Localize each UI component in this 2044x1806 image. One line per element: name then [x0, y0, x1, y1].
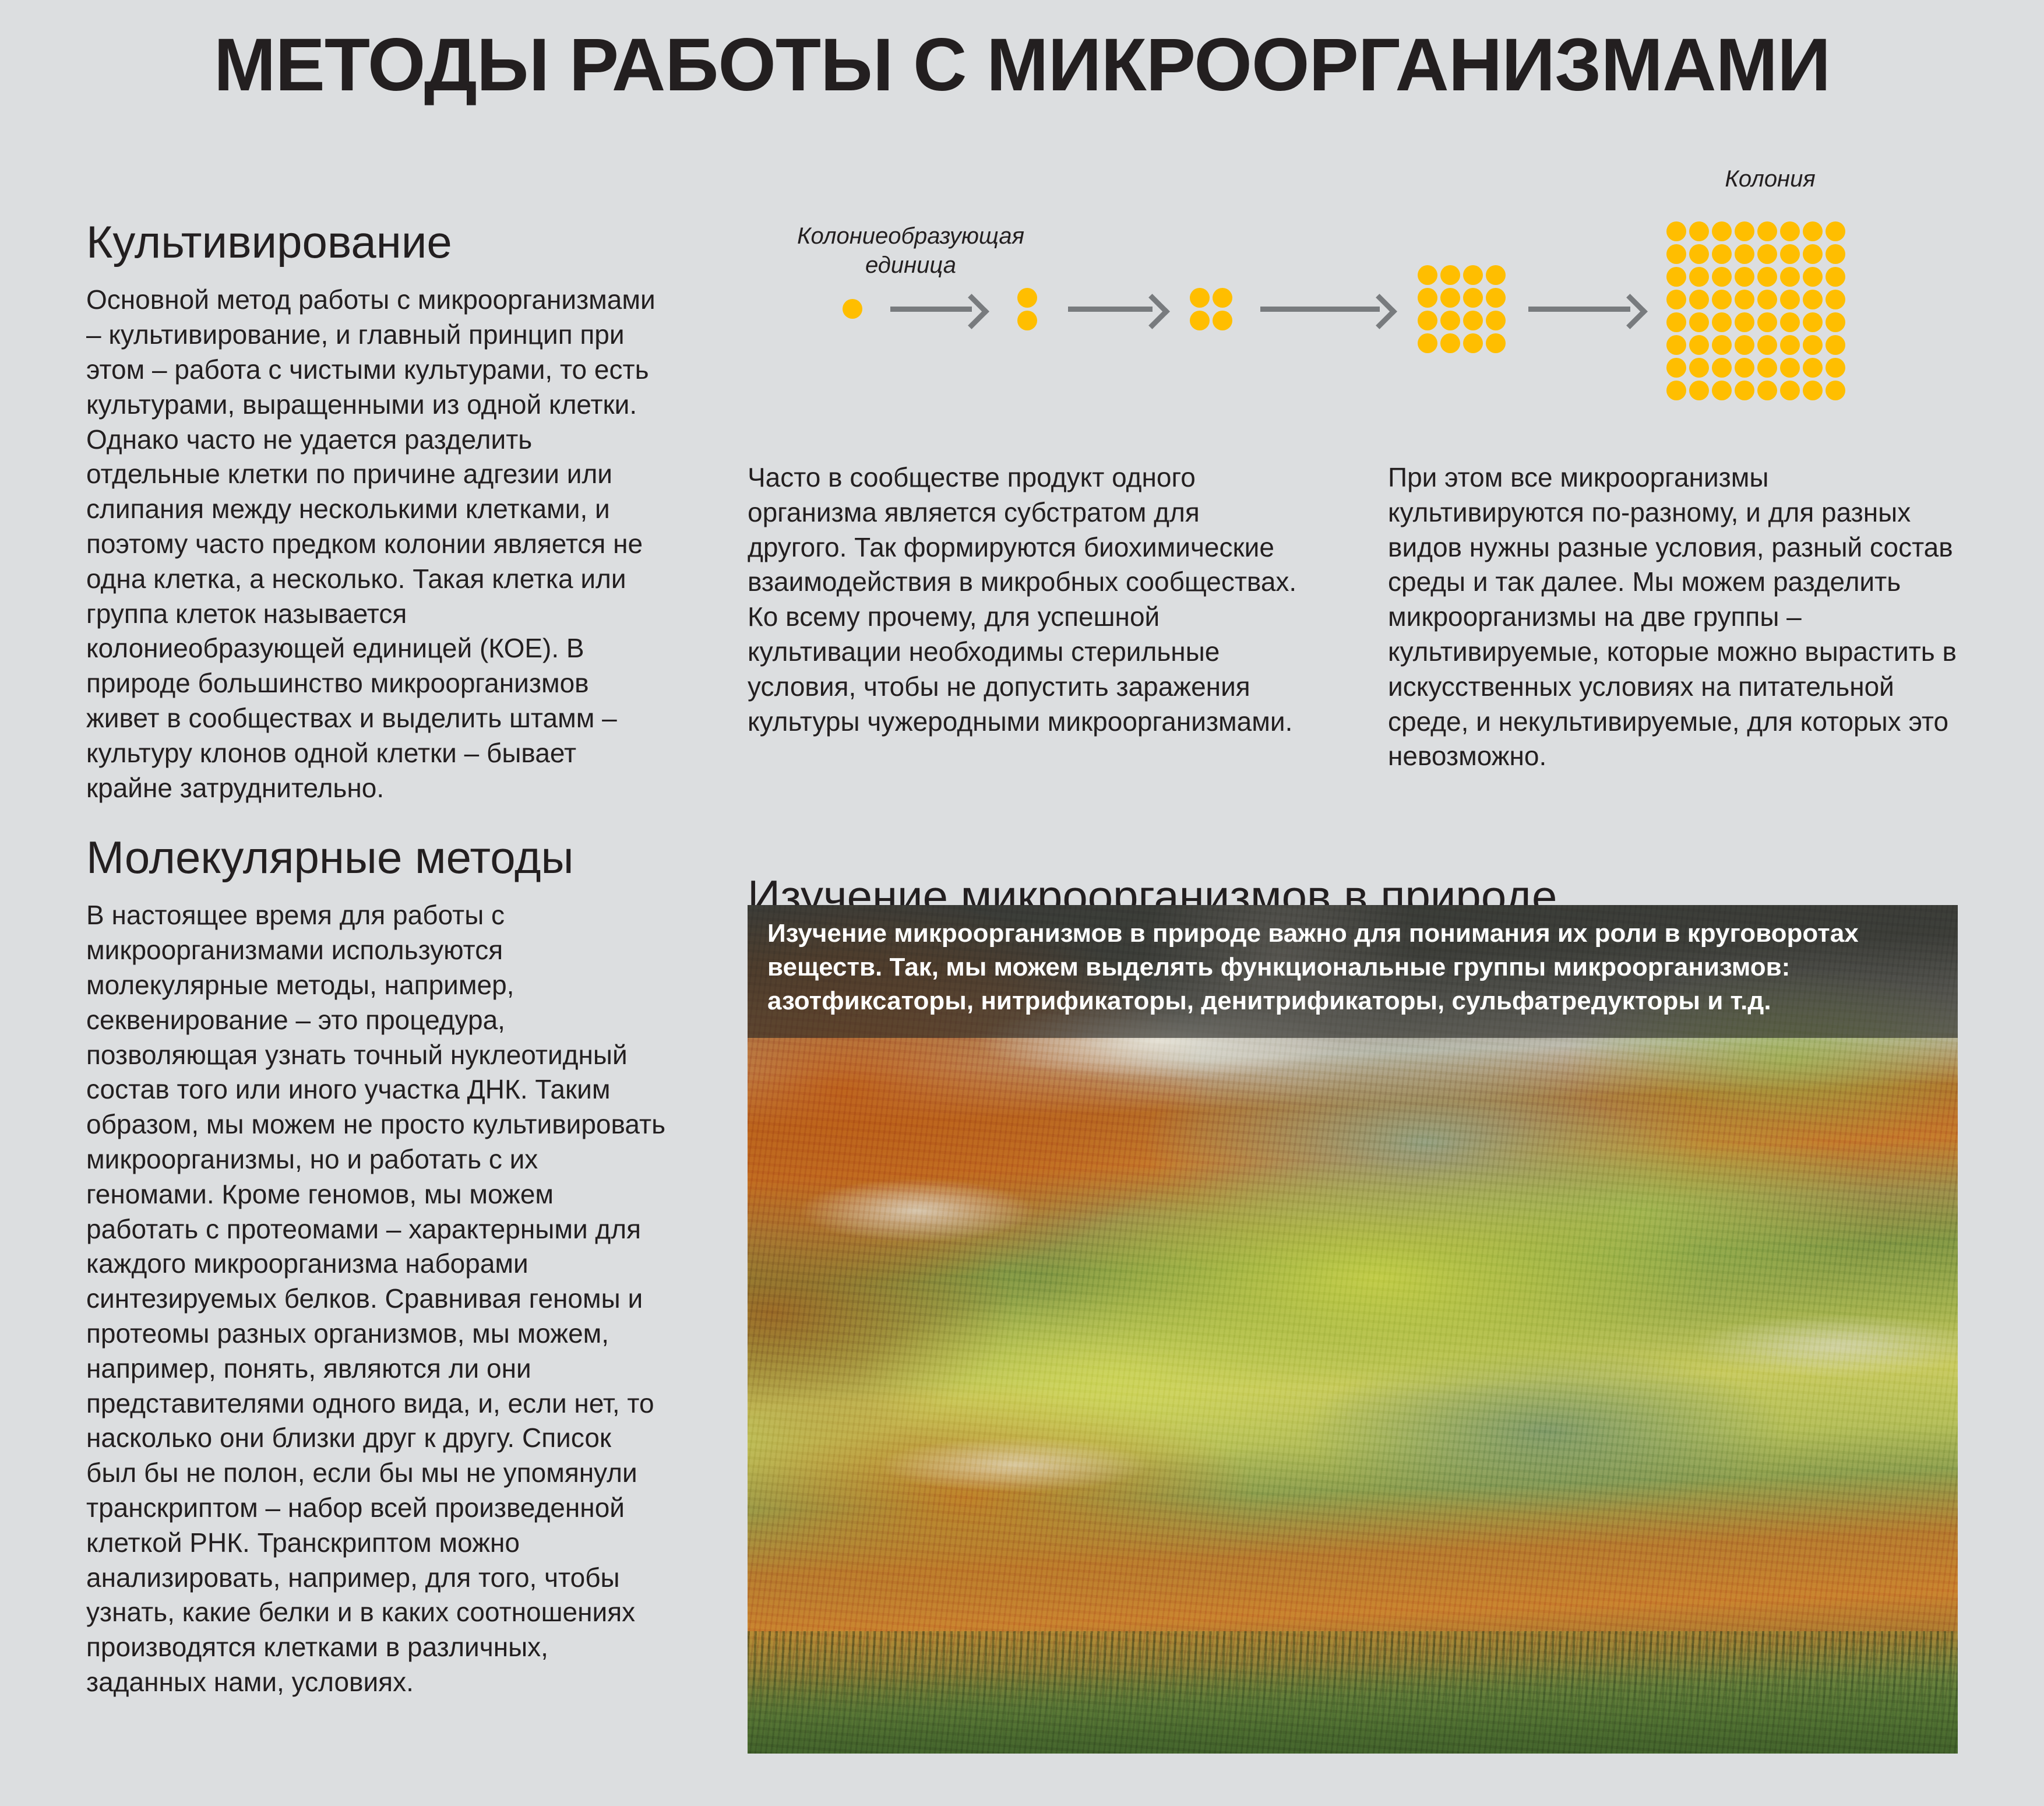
- cell-division-diagram: Колониеобразующая единица Колония: [748, 169, 1962, 449]
- cell-dot: [1666, 267, 1686, 287]
- cell-dot: [1780, 381, 1800, 400]
- cell-dot: [1803, 335, 1823, 355]
- cell-dot: [1213, 311, 1232, 330]
- community-body: Часто в сообществе продукт одного органи…: [748, 460, 1301, 739]
- cell-dot: [1712, 312, 1732, 332]
- cell-dot: [1463, 333, 1483, 353]
- arrow-right-icon: [1260, 291, 1394, 326]
- cell-dot: [1757, 290, 1777, 309]
- cell-dot: [1757, 358, 1777, 378]
- cell-dot: [1689, 335, 1709, 355]
- molecular-methods-section: Молекулярные методы В настоящее время дл…: [86, 832, 669, 1700]
- cell-dot: [1689, 221, 1709, 241]
- cell-dot: [1418, 288, 1437, 308]
- cell-dot: [1017, 311, 1037, 330]
- arrow-right-icon: [1528, 291, 1645, 326]
- arrow-right-icon: [890, 291, 986, 326]
- conditions-body: При этом все микроорганизмы культивируют…: [1388, 460, 1962, 774]
- stage-four-cells: [1185, 271, 1237, 347]
- cell-dot: [1666, 221, 1686, 241]
- cell-dot: [1440, 288, 1460, 308]
- cell-dot: [1735, 381, 1754, 400]
- cell-dot: [1440, 311, 1460, 330]
- cell-dot: [1825, 335, 1845, 355]
- cell-dot: [1757, 381, 1777, 400]
- page-title: МЕТОДЫ РАБОТЫ С МИКРООРГАНИЗМАМИ: [0, 22, 2044, 108]
- cell-dot: [1780, 335, 1800, 355]
- cell-dot: [1825, 312, 1845, 332]
- stage-sixteen-cells: [1412, 254, 1511, 364]
- cell-dot: [1780, 290, 1800, 309]
- cell-dot: [1418, 311, 1437, 330]
- cell-dot: [1780, 244, 1800, 264]
- cell-dot: [1666, 244, 1686, 264]
- arrow-head: [1612, 294, 1648, 329]
- cell-dot: [1689, 290, 1709, 309]
- cell-dot: [1689, 381, 1709, 400]
- cell-dot: [1780, 358, 1800, 378]
- cell-dot: [1757, 244, 1777, 264]
- cell-dot: [1418, 333, 1437, 353]
- cell-dot: [1757, 335, 1777, 355]
- cell-dot: [1666, 290, 1686, 309]
- cell-dot: [1190, 311, 1210, 330]
- cfu-label: Колониеобразующая единица: [783, 221, 1039, 280]
- cell-dot: [1825, 267, 1845, 287]
- cell-dot: [1017, 288, 1037, 308]
- stage-single-cell: [829, 283, 876, 335]
- cell-dot: [1780, 221, 1800, 241]
- cell-dot: [1486, 333, 1506, 353]
- cell-dot: [1712, 221, 1732, 241]
- cell-dot: [1757, 221, 1777, 241]
- cell-dot: [1440, 333, 1460, 353]
- cell-dot: [1780, 312, 1800, 332]
- molecular-methods-heading: Молекулярные методы: [86, 832, 669, 883]
- cell-dot: [1689, 244, 1709, 264]
- cell-dot: [1689, 358, 1709, 378]
- photo-caption: Изучение микроорганизмов в природе важно…: [767, 917, 1927, 1018]
- cell-dot: [1418, 265, 1437, 285]
- cell-dot: [1803, 221, 1823, 241]
- cell-dot: [1735, 358, 1754, 378]
- arrow-right-icon: [1068, 291, 1167, 326]
- cultivation-body: Основной метод работы с микроорганизмами…: [86, 283, 669, 805]
- cell-dot: [1825, 290, 1845, 309]
- cell-dot: [1735, 267, 1754, 287]
- cell-dot: [1712, 244, 1732, 264]
- stage-colony: [1659, 209, 1852, 413]
- cell-dot: [1463, 265, 1483, 285]
- cell-dot: [1803, 267, 1823, 287]
- cultivation-heading: Культивирование: [86, 217, 669, 267]
- cell-dot: [1825, 244, 1845, 264]
- cell-dot: [1757, 267, 1777, 287]
- cell-dot: [1803, 290, 1823, 309]
- cell-dot: [1712, 267, 1732, 287]
- stage-two-cells: [1004, 271, 1051, 347]
- cell-dot: [1735, 290, 1754, 309]
- cell-dot: [1825, 381, 1845, 400]
- cell-dot: [1803, 358, 1823, 378]
- cell-dot: [1757, 312, 1777, 332]
- cell-dot: [1825, 358, 1845, 378]
- cell-dot: [1712, 381, 1732, 400]
- cell-dot: [1735, 221, 1754, 241]
- cell-dot: [1440, 265, 1460, 285]
- cell-dot: [1803, 244, 1823, 264]
- cell-dot: [1486, 265, 1506, 285]
- cell-dot: [1712, 358, 1732, 378]
- arrow-head: [954, 294, 989, 329]
- cell-dot: [1712, 290, 1732, 309]
- cell-dot: [1712, 335, 1732, 355]
- cell-dot: [1735, 312, 1754, 332]
- cell-dot: [1486, 288, 1506, 308]
- cultivation-section: Культивирование Основной метод работы с …: [86, 217, 669, 805]
- cell-dot: [1463, 288, 1483, 308]
- cell-dot: [1780, 267, 1800, 287]
- cell-dot: [1666, 358, 1686, 378]
- cell-dot: [1463, 311, 1483, 330]
- cell-dot: [1735, 335, 1754, 355]
- cell-dot: [1486, 311, 1506, 330]
- colony-label: Колония: [1648, 164, 1893, 193]
- cell-dot: [1666, 381, 1686, 400]
- conditions-section: При этом все микроорганизмы культивируют…: [1388, 460, 1962, 774]
- cell-dot: [1666, 312, 1686, 332]
- cell-dot: [1735, 244, 1754, 264]
- molecular-methods-body: В настоящее время для работы с микроорга…: [86, 898, 669, 1699]
- community-section: Часто в сообществе продукт одного органи…: [748, 460, 1301, 739]
- arrow-head: [1362, 294, 1397, 329]
- cell-dot: [1825, 221, 1845, 241]
- cell-dot: [1803, 381, 1823, 400]
- cell-dot: [1803, 312, 1823, 332]
- hot-spring-photo: Изучение микроорганизмов в природе важно…: [748, 905, 1958, 1754]
- arrow-head: [1134, 294, 1170, 329]
- cell-dot: [1213, 288, 1232, 308]
- cell-dot: [1190, 288, 1210, 308]
- cell-dot: [1666, 335, 1686, 355]
- cell-dot: [1689, 267, 1709, 287]
- cell-dot: [1689, 312, 1709, 332]
- cell-dot: [843, 299, 862, 319]
